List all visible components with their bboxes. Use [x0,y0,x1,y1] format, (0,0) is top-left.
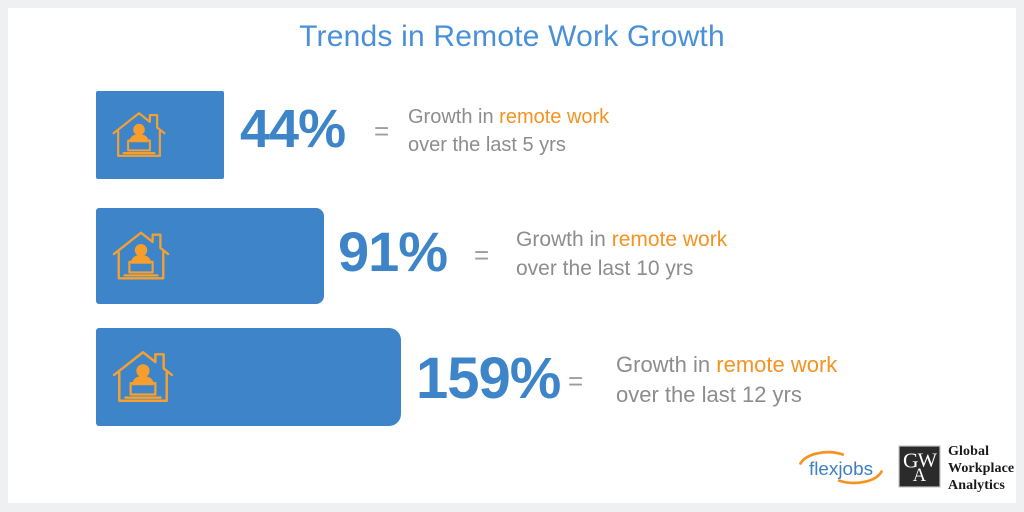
desc-line2: over the last 12 yrs [616,382,802,407]
svg-text:A: A [913,465,927,486]
desc-highlight: remote work [499,106,609,128]
flexjobs-logo: flexjobs [796,448,886,488]
equals-sign: = [474,242,489,268]
house-remote-worker-icon [110,344,176,410]
infographic-canvas: Trends in Remote Work Growth 44% = [8,8,1016,503]
desc-line2: over the last 5 yrs [408,134,566,156]
house-remote-worker-icon [110,225,172,287]
gwa-line2: Workplace [948,460,1014,477]
gwa-line3: Analytics [948,477,1014,494]
bar-159 [96,328,401,426]
equals-sign: = [568,368,583,394]
bar-44 [96,91,224,179]
desc-highlight: remote work [612,228,728,251]
stat-row: 159% = Growth in remote work over the la… [8,320,1016,440]
gwa-wordmark: Global Workplace Analytics [948,443,1014,494]
stat-percent: 44% [240,102,345,156]
desc-highlight: remote work [716,352,837,377]
flexjobs-wordmark: flexjobs [809,459,873,480]
stat-percent: 159% [416,350,560,408]
stat-description: Growth in remote work over the last 12 y… [616,350,837,411]
desc-lead: Growth in [516,228,612,251]
stat-percent: 91% [338,224,447,280]
desc-lead: Growth in [408,106,499,128]
stat-row: 44% = Growth in remote work over the las… [8,78,1016,198]
logo-strip: flexjobs G W A Global Workplace Analytic… [788,436,1013,498]
stat-description: Growth in remote work over the last 10 y… [516,226,727,284]
desc-line2: over the last 10 yrs [516,257,693,280]
equals-sign: = [374,118,389,144]
gwa-monogram-icon: G W A [898,445,941,488]
house-remote-worker-icon [110,106,168,164]
stat-row: 91% = Growth in remote work over the las… [8,198,1016,318]
bar-91 [96,208,324,304]
gwa-logo: G W A Global Workplace Analytics [898,439,1013,495]
desc-lead: Growth in [616,352,716,377]
stat-description: Growth in remote work over the last 5 yr… [408,104,609,159]
gwa-line1: Global [948,443,1014,460]
page-title: Trends in Remote Work Growth [8,20,1016,54]
